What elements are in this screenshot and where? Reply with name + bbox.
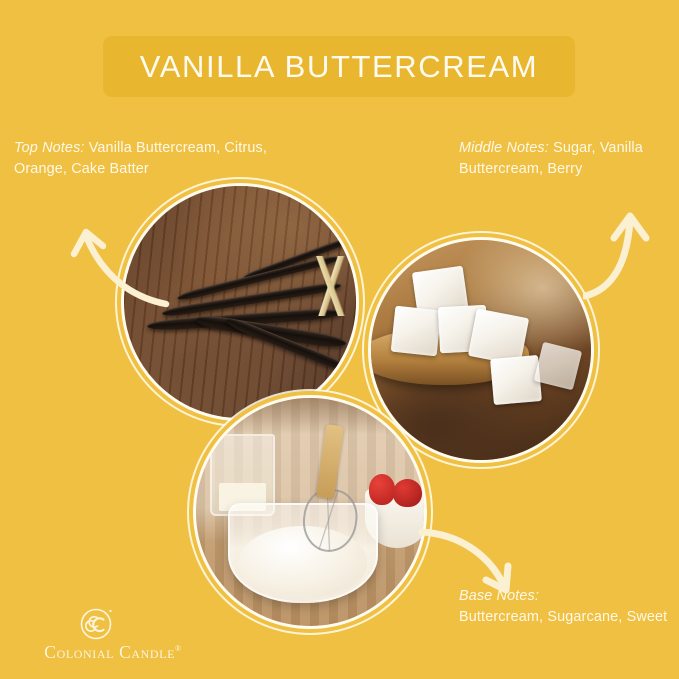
brand-name: Colonial Candle bbox=[44, 642, 175, 662]
vanilla-beans-image bbox=[124, 186, 356, 418]
vanilla-bean-tie bbox=[291, 256, 356, 316]
top-notes-block: Top Notes: Vanilla Buttercream, Citrus, … bbox=[14, 138, 284, 180]
middle-notes-label: Middle Notes: bbox=[459, 140, 549, 156]
fragrance-notes-poster: VANILLA BUTTERCREAM Top Notes: Vanilla B… bbox=[0, 0, 679, 679]
base-notes-value: Buttercream, Sugarcane, Sweet bbox=[459, 609, 667, 625]
title-banner: VANILLA BUTTERCREAM bbox=[103, 36, 575, 97]
page-title: VANILLA BUTTERCREAM bbox=[140, 49, 538, 85]
buttercream-bowl-image bbox=[196, 398, 424, 626]
arrow-to-middle-notes-icon bbox=[583, 192, 673, 302]
top-notes-label: Top Notes: bbox=[14, 140, 85, 156]
base-notes-block: Base Notes: Buttercream, Sugarcane, Swee… bbox=[459, 586, 674, 628]
base-notes-label: Base Notes: bbox=[459, 588, 539, 604]
colonial-candle-monogram-icon bbox=[79, 606, 114, 641]
middle-notes-block: Middle Notes: Sugar, Vanilla Buttercream… bbox=[459, 138, 674, 180]
photo-vanilla-beans bbox=[124, 186, 356, 418]
photo-buttercream-bowl bbox=[196, 398, 424, 626]
brand-wordmark: Colonial Candle® bbox=[33, 642, 193, 663]
whisk-handle bbox=[316, 424, 344, 499]
registered-mark: ® bbox=[175, 644, 182, 653]
sugar-cube bbox=[534, 341, 582, 389]
brand-logo: Colonial Candle® bbox=[33, 606, 193, 668]
sugar-cube bbox=[391, 306, 442, 357]
